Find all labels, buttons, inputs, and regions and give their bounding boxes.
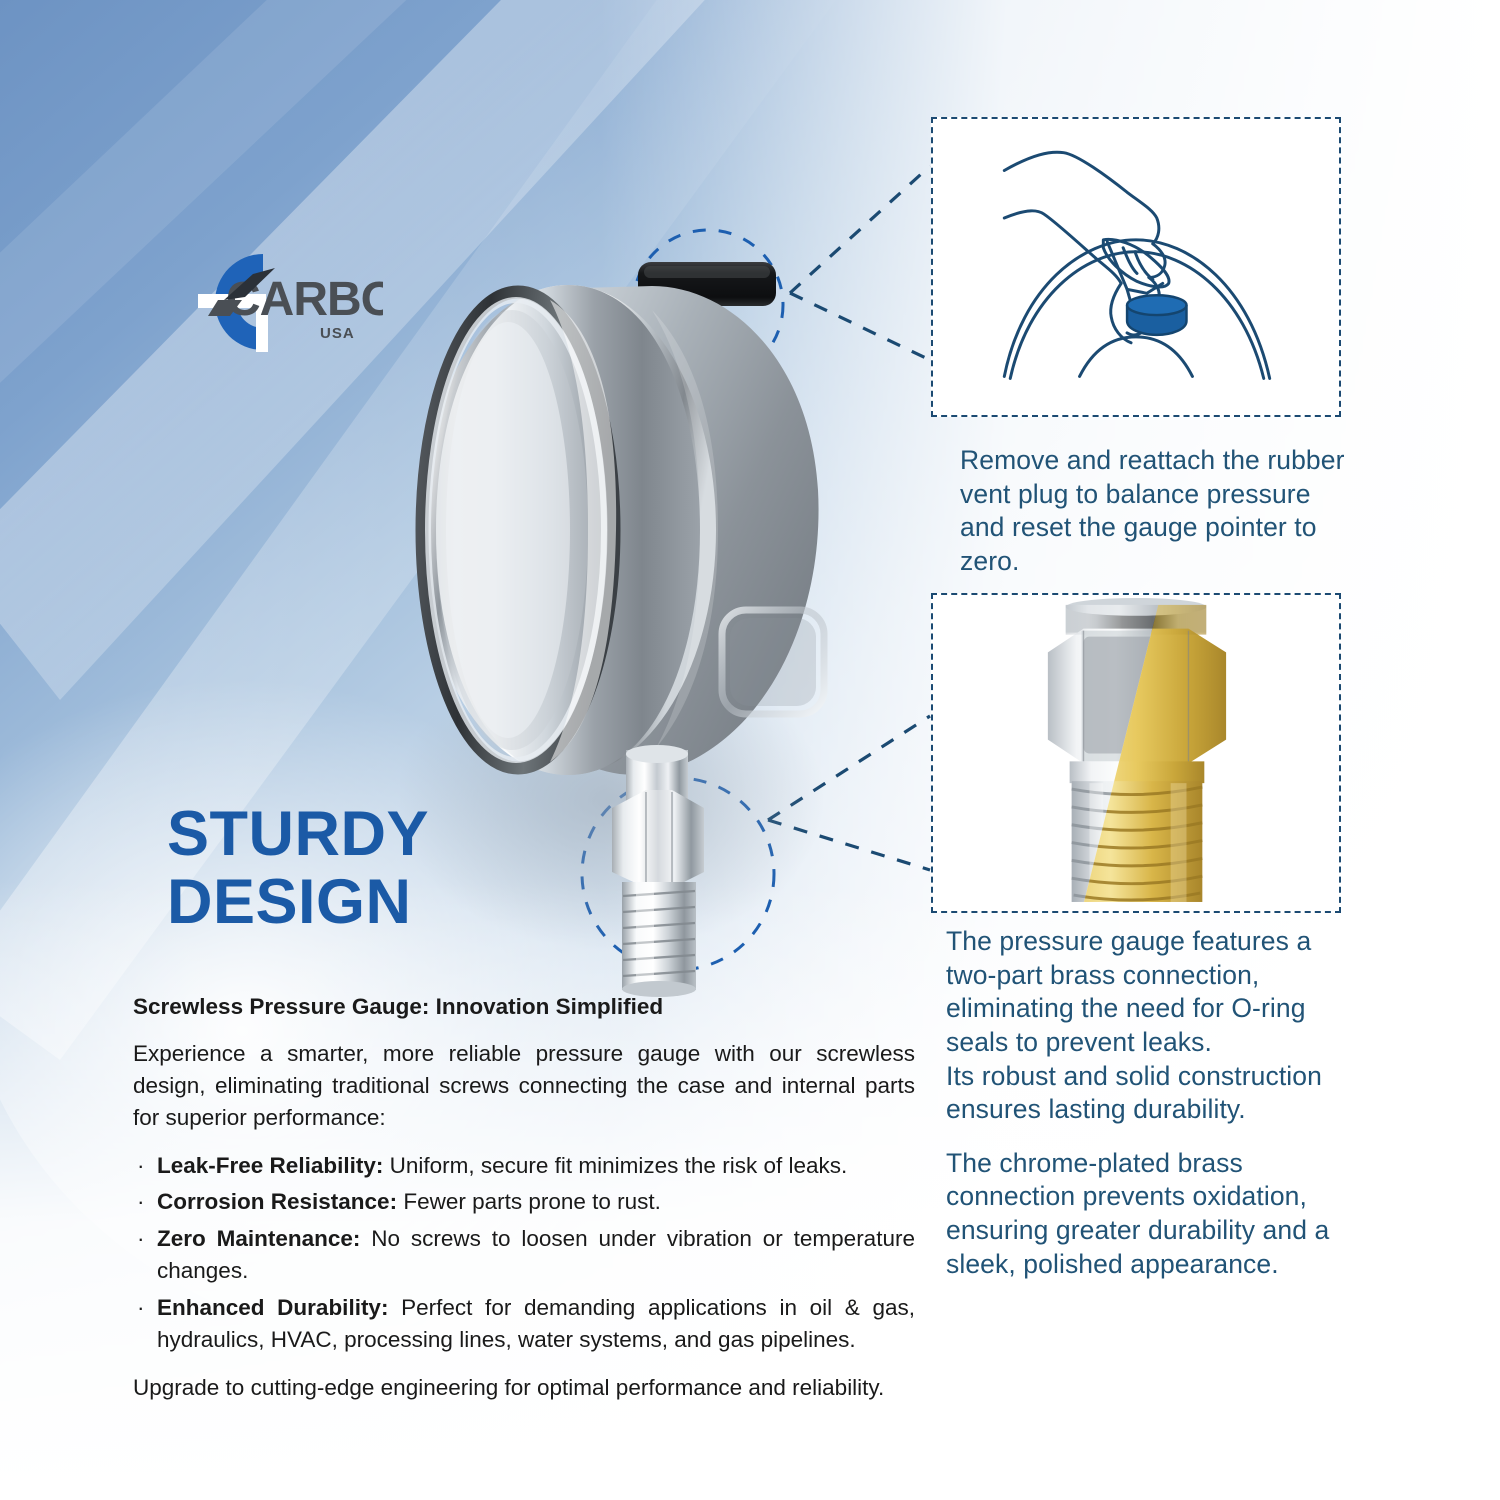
c-arc-logo-icon: CARBO USA [168,240,383,365]
feature-list: · Leak-Free Reliability: Uniform, secure… [133,1150,915,1356]
feature-term: Enhanced Durability: [157,1295,388,1320]
callout-text-vent-plug: Remove and reattach the rubber vent plug… [960,444,1360,579]
logo-sub: USA [320,325,355,342]
callout-text-brass-fitting: The pressure gauge features a two-part b… [946,925,1361,1281]
list-item: · Zero Maintenance: No screws to loosen … [133,1223,915,1288]
page-title: STURDY DESIGN [167,800,429,936]
bullet-glyph: · [137,1150,145,1182]
feature-term: Zero Maintenance: [157,1226,360,1251]
product-image-pressure-gauge [400,240,880,1000]
hand-removing-vent-plug-icon [933,119,1339,416]
bullet-glyph: · [137,1292,145,1324]
page-title-line1: STURDY [167,800,429,868]
description-intro: Experience a smarter, more reliable pres… [133,1038,915,1134]
feature-term: Leak-Free Reliability: [157,1153,383,1178]
description-outro: Upgrade to cutting-edge engineering for … [133,1372,915,1404]
list-item: · Enhanced Durability: Perfect for deman… [133,1292,915,1357]
callout-box-brass-fitting [931,593,1341,913]
vent-plug-description: Remove and reattach the rubber vent plug… [960,444,1360,579]
description-title: Screwless Pressure Gauge: Innovation Sim… [133,992,915,1021]
two-part-brass-hex-fitting-icon [933,595,1339,912]
embossed-label-area [722,610,824,714]
callout-box-vent-plug [931,117,1341,417]
feature-term: Corrosion Resistance: [157,1189,397,1214]
feature-desc: Uniform, secure fit minimizes the risk o… [390,1153,848,1178]
list-item: · Leak-Free Reliability: Uniform, secure… [133,1150,915,1182]
list-item: · Corrosion Resistance: Fewer parts pron… [133,1186,915,1218]
page-title-line2: DESIGN [167,868,429,936]
product-description-block: Screwless Pressure Gauge: Innovation Sim… [133,992,915,1404]
brass-description-2: The chrome-plated brass connection preve… [946,1147,1361,1282]
feature-desc: Fewer parts prone to rust. [403,1189,661,1214]
brand-logo: CARBO USA [168,240,383,365]
brass-description-1: The pressure gauge features a two-part b… [946,925,1361,1127]
vent-plug-disc-icon [1127,295,1186,335]
bullet-glyph: · [137,1223,145,1255]
bullet-glyph: · [137,1186,145,1218]
